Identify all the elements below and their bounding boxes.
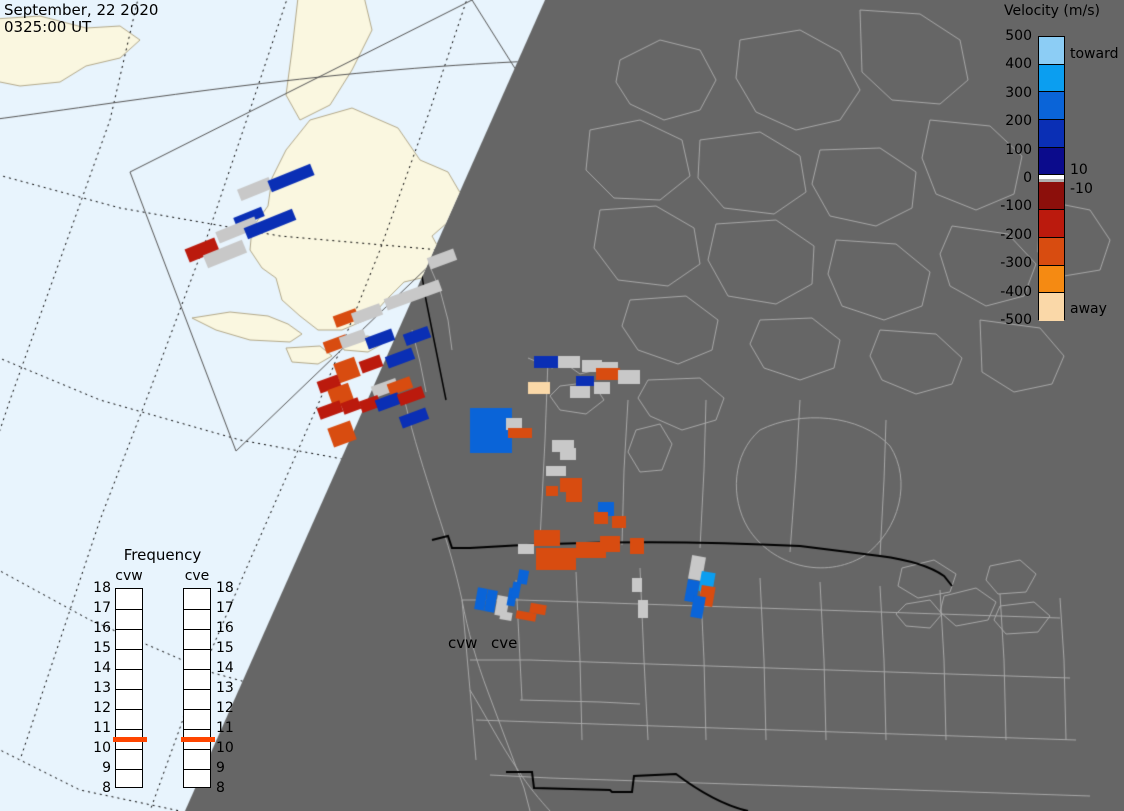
colorbar-tick-neg500: -500 (1000, 312, 1032, 328)
colorbar-segment-toward-1 (1039, 65, 1064, 93)
colorbar-tick-0: 0 (1023, 170, 1032, 186)
frequency-tick-cvw-15: 15 (89, 640, 111, 656)
frequency-tick-cvw-10: 10 (89, 740, 111, 756)
frequency-tick-cve-12: 12 (216, 700, 238, 716)
frequency-column-label-cvw: cvw (109, 568, 149, 584)
frequency-tick-cve-16: 16 (216, 620, 238, 636)
frequency-tick-cvw-12: 12 (89, 700, 111, 716)
colorbar-segment-away-2 (1039, 238, 1064, 266)
frequency-tick-cve-10: 10 (216, 740, 238, 756)
colorbar-segment-away-1 (1039, 210, 1064, 238)
frequency-marker-cvw (113, 737, 147, 742)
frequency-tick-cve-15: 15 (216, 640, 238, 656)
colorbar-tick-400: 400 (1005, 56, 1032, 72)
colorbar-away-label: away (1070, 301, 1107, 317)
frequency-gridline-15 (116, 649, 142, 650)
colorbar-segment-toward-3 (1039, 120, 1064, 148)
frequency-tick-cve-17: 17 (216, 600, 238, 616)
frequency-gridline-16 (116, 629, 142, 630)
colorbar-segment-toward-0 (1039, 37, 1064, 65)
frequency-column-label-cve: cve (177, 568, 217, 584)
frequency-gridline-9 (184, 769, 210, 770)
frequency-gridline-12 (116, 709, 142, 710)
frequency-gridline-16 (184, 629, 210, 630)
timestamp-label: September, 22 2020 0325:00 UT (4, 2, 158, 36)
frequency-gridline-15 (184, 649, 210, 650)
frequency-tick-cve-9: 9 (216, 760, 238, 776)
frequency-gridline-13 (184, 689, 210, 690)
frequency-gridline-14 (116, 669, 142, 670)
frequency-bar-cvw[interactable] (115, 588, 143, 788)
colorbar-tick-neg200: -200 (1000, 227, 1032, 243)
frequency-tick-cve-8: 8 (216, 780, 238, 796)
frequency-gridline-9 (116, 769, 142, 770)
frequency-legend-title: Frequency (85, 546, 240, 564)
colorbar-toward-label: toward (1070, 46, 1118, 62)
radar-map-screenshot: September, 22 2020 0325:00 UT Velocity (… (0, 0, 1124, 811)
frequency-tick-cve-11: 11 (216, 720, 238, 736)
colorbar-tick-neg300: -300 (1000, 255, 1032, 271)
colorbar-tick-neg400: -400 (1000, 284, 1032, 300)
frequency-tick-cvw-8: 8 (89, 780, 111, 796)
colorbar-tick-300: 300 (1005, 85, 1032, 101)
frequency-tick-cvw-9: 9 (89, 760, 111, 776)
radar-site-label-cve: cve (491, 634, 517, 652)
radar-site-label-cvw: cvw (448, 634, 477, 652)
frequency-gridline-10 (184, 749, 210, 750)
frequency-tick-cvw-17: 17 (89, 600, 111, 616)
colorbar-tick-100: 100 (1005, 142, 1032, 158)
velocity-legend: Velocity (m/s) 5004003002001000-100-200-… (980, 0, 1124, 330)
frequency-gridline-17 (116, 609, 142, 610)
frequency-bar-cve[interactable] (183, 588, 211, 788)
frequency-tick-cve-13: 13 (216, 680, 238, 696)
frequency-tick-cve-18: 18 (216, 580, 238, 596)
colorbar-inner-high-label: 10 (1070, 162, 1088, 178)
colorbar-segment-toward-2 (1039, 92, 1064, 120)
colorbar-segment-toward-4 (1039, 148, 1064, 176)
colorbar-tick-neg100: -100 (1000, 198, 1032, 214)
frequency-tick-cvw-18: 18 (89, 580, 111, 596)
frequency-gridline-11 (184, 729, 210, 730)
frequency-tick-cvw-14: 14 (89, 660, 111, 676)
frequency-gridline-11 (116, 729, 142, 730)
frequency-legend: Frequency cvwcve181817171616151514141313… (85, 546, 240, 796)
colorbar-segment-away-0 (1039, 182, 1064, 210)
frequency-gridline-12 (184, 709, 210, 710)
velocity-legend-title: Velocity (m/s) (980, 3, 1124, 19)
colorbar-tick-500: 500 (1005, 28, 1032, 44)
colorbar-tick-200: 200 (1005, 113, 1032, 129)
frequency-tick-cvw-11: 11 (89, 720, 111, 736)
colorbar-segment-away-3 (1039, 266, 1064, 294)
frequency-gridline-13 (116, 689, 142, 690)
frequency-marker-cve (181, 737, 215, 742)
colorbar-inner-low-label: -10 (1070, 181, 1093, 197)
frequency-tick-cvw-13: 13 (89, 680, 111, 696)
frequency-tick-cvw-16: 16 (89, 620, 111, 636)
frequency-tick-cve-14: 14 (216, 660, 238, 676)
frequency-gridline-17 (184, 609, 210, 610)
frequency-gridline-14 (184, 669, 210, 670)
colorbar-segment-away-4 (1039, 293, 1064, 321)
velocity-colorbar[interactable] (1038, 36, 1065, 320)
frequency-gridline-10 (116, 749, 142, 750)
